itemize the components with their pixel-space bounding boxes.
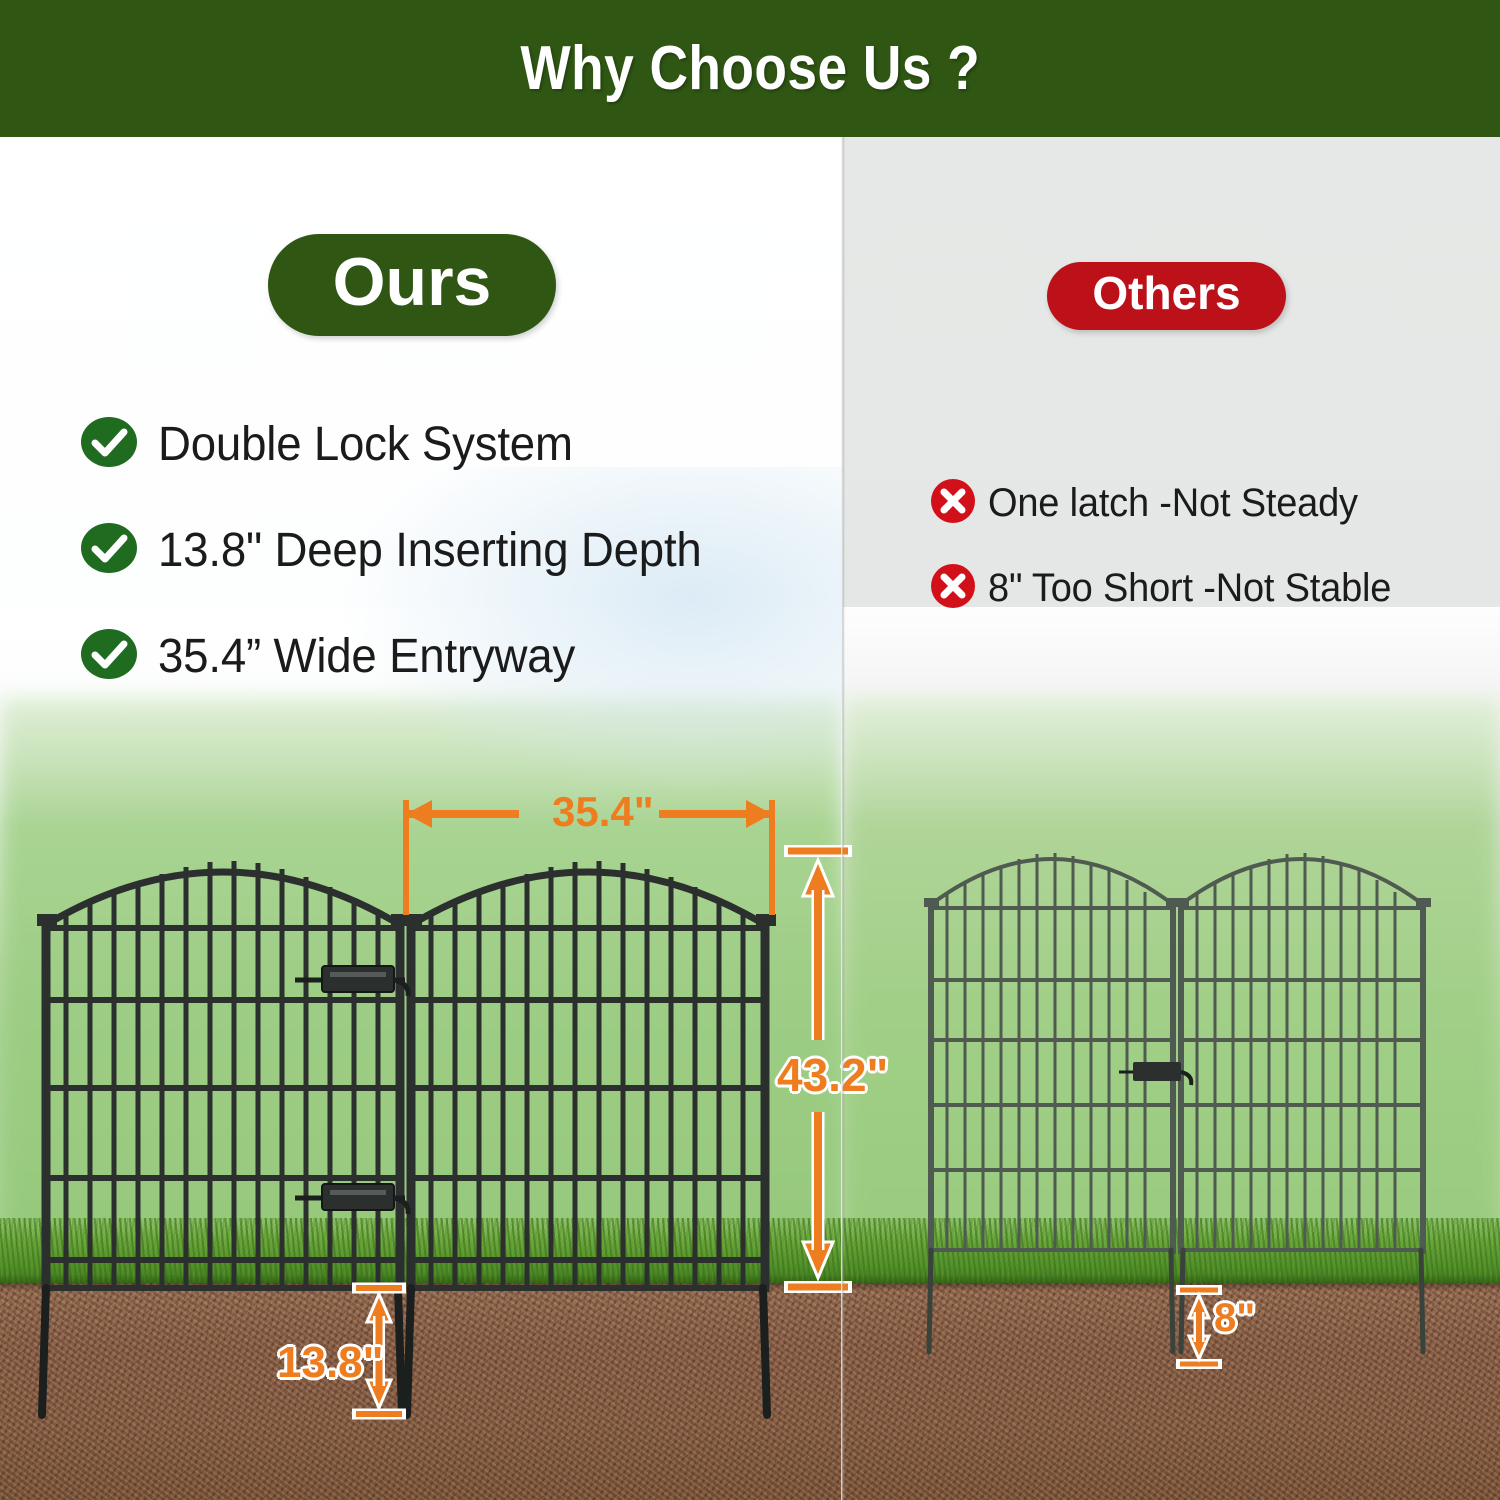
product-comparison-infographic: Why Choose Us ? Ours Others	[0, 0, 1500, 1500]
badge-ours-label: Ours	[333, 243, 492, 321]
check-circle-icon	[80, 628, 158, 685]
list-item-label: 35.4” Wide Entryway	[158, 629, 575, 684]
others-ground-stakes	[929, 1250, 1423, 1352]
ours-ground-stakes	[42, 1288, 767, 1415]
latch-upper	[295, 966, 408, 996]
others-fence-illustration	[905, 840, 1465, 1440]
check-circle-icon	[80, 522, 158, 579]
ours-fence-illustration	[0, 840, 800, 1440]
list-item-label: 8" Too Short -Not Stable	[988, 566, 1391, 611]
badge-ours: Ours	[268, 234, 556, 336]
check-circle-icon	[80, 416, 158, 473]
list-item: One latch -Not Steady	[930, 478, 1412, 529]
panel-divider	[841, 137, 845, 1500]
ours-fence-panel-left	[37, 861, 411, 1292]
others-fence-panel-right	[1174, 853, 1431, 1254]
list-item: 35.4” Wide Entryway	[80, 628, 730, 685]
header-banner: Why Choose Us ?	[0, 0, 1500, 137]
list-item: 13.8" Deep Inserting Depth	[80, 522, 730, 579]
ours-feature-list: Double Lock System 13.8" Deep Inserting …	[80, 416, 730, 734]
list-item-label: Double Lock System	[158, 417, 573, 472]
others-feature-list: One latch -Not Steady 8" Too Short -Not …	[930, 478, 1412, 648]
ours-fence-panel-right	[402, 861, 776, 1292]
x-circle-icon	[930, 478, 988, 529]
page-title: Why Choose Us ?	[520, 33, 980, 104]
others-fence-panel-left	[924, 853, 1181, 1254]
badge-others-label: Others	[1092, 266, 1240, 320]
list-item-label: One latch -Not Steady	[988, 481, 1358, 526]
latch-lower	[295, 1184, 408, 1214]
x-circle-icon	[930, 563, 988, 614]
list-item-label: 13.8" Deep Inserting Depth	[158, 523, 702, 578]
list-item: Double Lock System	[80, 416, 730, 473]
badge-others: Others	[1047, 262, 1286, 330]
list-item: 8" Too Short -Not Stable	[930, 563, 1412, 614]
